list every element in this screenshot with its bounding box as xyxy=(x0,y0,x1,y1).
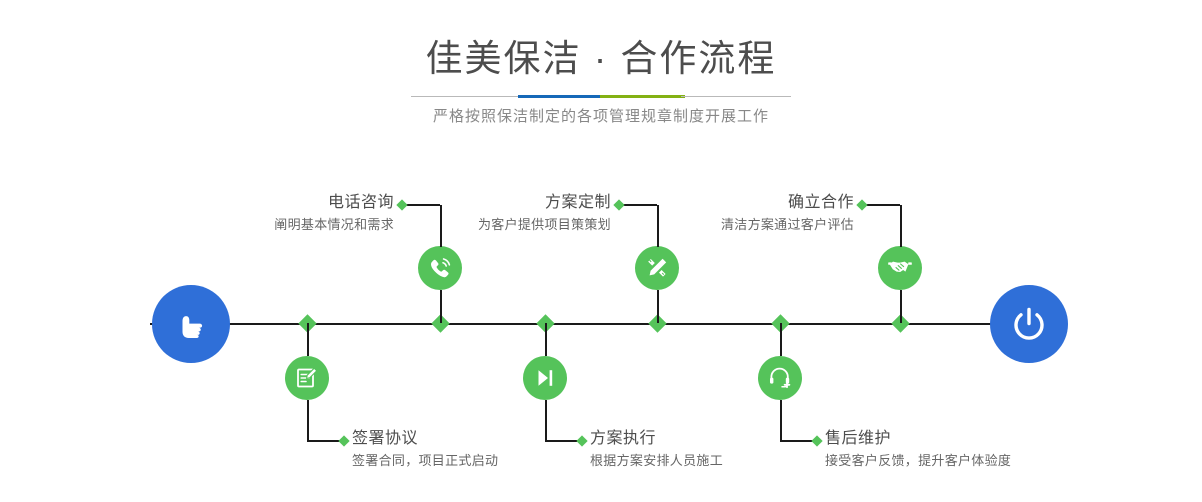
power-icon xyxy=(1006,301,1052,347)
timeline-end-node xyxy=(990,285,1068,363)
timeline-start-node xyxy=(152,285,230,363)
pointing-hand-icon xyxy=(169,302,213,346)
document-pen-icon xyxy=(294,365,320,391)
connector-vertical-5 xyxy=(780,323,782,356)
title-divider xyxy=(411,95,791,98)
connector-horizontal-6 xyxy=(865,204,900,206)
step-label-6: 确立合作 清洁方案通过客户评估 xyxy=(470,192,854,236)
connector-vertical-1b xyxy=(307,400,309,442)
connector-vertical-3b xyxy=(545,400,547,442)
step-label-3: 方案执行 根据方案安排人员施工 xyxy=(590,428,723,472)
label-dot-6 xyxy=(856,199,867,210)
handshake-icon xyxy=(887,255,913,281)
connector-vertical-1 xyxy=(307,323,309,356)
phone-call-icon xyxy=(427,255,453,281)
connector-vertical-6b xyxy=(900,205,902,247)
step-desc-5: 接受客户反馈，提升客户体验度 xyxy=(825,450,1011,472)
connector-vertical-5b xyxy=(780,400,782,442)
connector-horizontal-1 xyxy=(307,440,342,442)
step-title-1: 签署协议 xyxy=(352,428,498,450)
play-next-icon xyxy=(532,365,558,391)
step-icon-2 xyxy=(418,246,462,290)
step-desc-1: 签署合同，项目正式启动 xyxy=(352,450,498,472)
divider-green-segment xyxy=(600,95,685,98)
connector-vertical-2 xyxy=(440,290,442,323)
step-icon-6 xyxy=(878,246,922,290)
step-desc-3: 根据方案安排人员施工 xyxy=(590,450,723,472)
divider-gray-right xyxy=(681,96,791,97)
connector-vertical-3 xyxy=(545,323,547,356)
page-title: 佳美保洁 · 合作流程 xyxy=(0,36,1202,82)
label-dot-3 xyxy=(576,435,587,446)
connector-horizontal-5 xyxy=(780,440,815,442)
pencil-ruler-icon xyxy=(644,255,670,281)
process-flow-infographic: 佳美保洁 · 合作流程 严格按照保洁制定的各项管理规章制度开展工作 xyxy=(0,0,1202,502)
divider-blue-segment xyxy=(518,95,600,98)
step-title-6: 确立合作 xyxy=(470,192,854,214)
step-icon-5 xyxy=(758,356,802,400)
step-title-3: 方案执行 xyxy=(590,428,723,450)
page-subtitle: 严格按照保洁制定的各项管理规章制度开展工作 xyxy=(0,105,1202,129)
step-desc-6: 清洁方案通过客户评估 xyxy=(470,214,854,236)
step-icon-3 xyxy=(523,356,567,400)
timeline-axis xyxy=(150,323,1052,325)
label-dot-5 xyxy=(811,435,822,446)
step-title-5: 售后维护 xyxy=(825,428,1011,450)
divider-gray-left xyxy=(411,96,521,97)
step-icon-1 xyxy=(285,356,329,400)
connector-vertical-4 xyxy=(657,290,659,323)
headset-support-icon xyxy=(767,365,793,391)
step-label-5: 售后维护 接受客户反馈，提升客户体验度 xyxy=(825,428,1011,472)
connector-horizontal-3 xyxy=(545,440,580,442)
step-icon-4 xyxy=(635,246,679,290)
step-label-1: 签署协议 签署合同，项目正式启动 xyxy=(352,428,498,472)
label-dot-1 xyxy=(338,435,349,446)
connector-vertical-6 xyxy=(900,290,902,323)
